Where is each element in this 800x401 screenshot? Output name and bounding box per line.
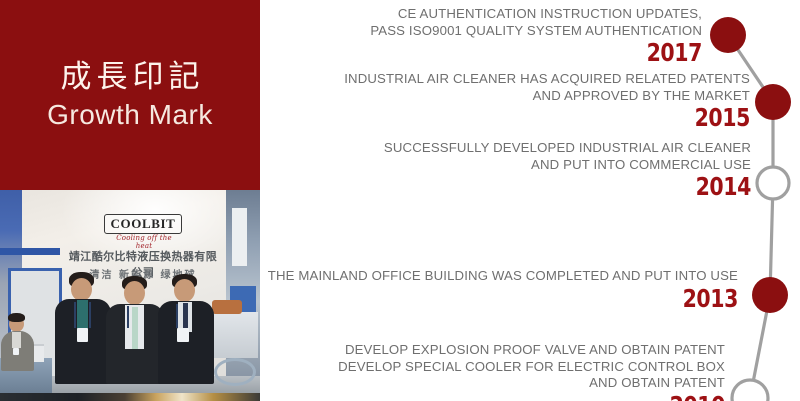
timeline-marker-2010 <box>732 380 768 401</box>
timeline-panel: CE AUTHENTICATION INSTRUCTION UPDATES, P… <box>260 0 800 401</box>
photo-person-center <box>106 276 164 384</box>
secondary-photo-strip <box>0 393 260 401</box>
timeline-entry-year: 2010 <box>352 393 725 401</box>
timeline-entry-2015: INDUSTRIAL AIR CLEANER HAS ACQUIRED RELA… <box>270 71 750 130</box>
timeline-entry-year: 2015 <box>356 105 750 130</box>
timeline-marker-2017 <box>710 17 746 53</box>
timeline-entry-2013: THE MAINLAND OFFICE BUILDING WAS COMPLET… <box>260 268 738 311</box>
booth-equipment-top <box>212 300 242 314</box>
timeline-marker-2013 <box>752 277 788 313</box>
slide-canvas: 成長印記 Growth Mark COOLBIT Cooling off the… <box>0 0 800 401</box>
timeline-entry-description: DEVELOP EXPLOSION PROOF VALVE AND OBTAIN… <box>270 342 725 392</box>
booth-blue-stripe <box>0 248 60 255</box>
photo-person-right <box>158 274 214 384</box>
booth-brand-logo: COOLBIT <box>104 214 182 234</box>
photo-person-seated <box>0 310 40 393</box>
timeline-entry-description: SUCCESSFULLY DEVELOPED INDUSTRIAL AIR CL… <box>270 140 751 173</box>
left-panel: 成長印記 Growth Mark COOLBIT Cooling off the… <box>0 0 260 401</box>
photo-person-left <box>55 272 111 384</box>
booth-right-sign <box>232 208 247 266</box>
timeline-entry-description: INDUSTRIAL AIR CLEANER HAS ACQUIRED RELA… <box>270 71 750 104</box>
booth-coil-ring <box>214 358 256 386</box>
timeline-marker-2014 <box>757 167 789 199</box>
timeline-entry-description: CE AUTHENTICATION INSTRUCTION UPDATES, P… <box>270 6 702 39</box>
timeline-entry-2017: CE AUTHENTICATION INSTRUCTION UPDATES, P… <box>270 6 702 65</box>
timeline-entry-year: 2014 <box>357 174 751 199</box>
timeline-entry-year: 2017 <box>348 40 702 65</box>
trade-show-booth-photo: COOLBIT Cooling off the heat 靖江酷尔比特液压换热器… <box>0 190 260 393</box>
timeline-marker-2015 <box>755 84 791 120</box>
title-heading-en: Growth Mark <box>47 100 213 131</box>
timeline-entry-year: 2013 <box>346 286 738 311</box>
timeline-entry-2014: SUCCESSFULLY DEVELOPED INDUSTRIAL AIR CL… <box>270 140 751 199</box>
title-heading-cn: 成長印記 <box>56 60 205 94</box>
timeline-entry-description: THE MAINLAND OFFICE BUILDING WAS COMPLET… <box>260 268 738 285</box>
title-block: 成長印記 Growth Mark <box>0 0 260 190</box>
timeline-entry-2010: DEVELOP EXPLOSION PROOF VALVE AND OBTAIN… <box>270 342 725 401</box>
